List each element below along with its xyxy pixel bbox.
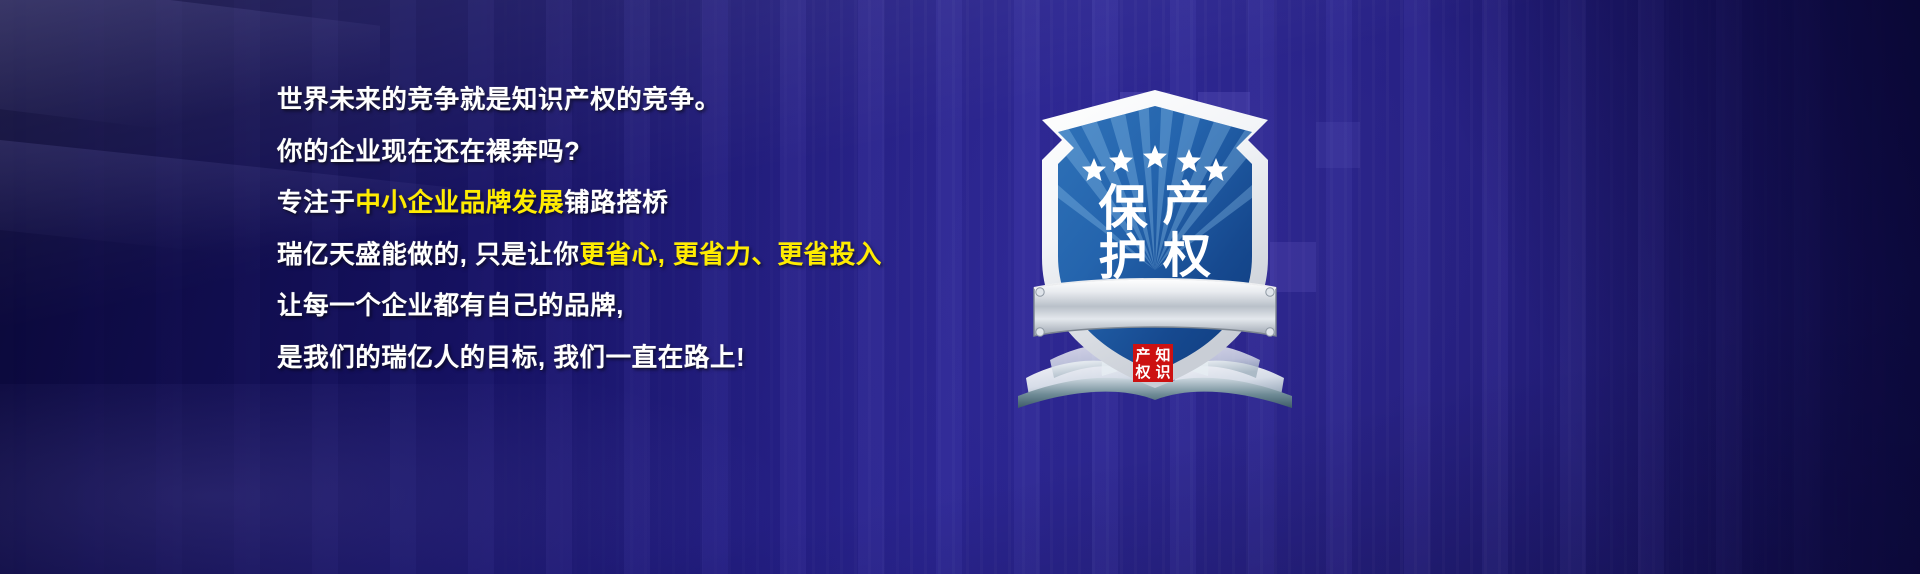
headline-line-3: 专注于中小企业品牌发展铺路搭桥 [277, 191, 937, 217]
shield-char-chan: 产 [1163, 177, 1210, 230]
headline-line-1-segment-1: 世界未来的竞争就是知识产权的竞争。 [277, 86, 721, 114]
headline-line-6: 是我们的瑞亿人的目标, 我们一直在路上! [277, 346, 937, 372]
headline-line-3-segment-3: 铺路搭桥 [564, 189, 668, 217]
seal-char-zhi: 知 [1155, 346, 1170, 364]
shield-char-hu: 护 [1098, 231, 1147, 285]
headline-line-4-highlight: 更省心, 更省力、更省投入 [579, 241, 881, 269]
headline-line-4: 瑞亿天盛能做的, 只是让你更省心, 更省力、更省投入 [277, 243, 937, 269]
shield-emblem: 保 产 护 权 产 知 权 识 [990, 60, 1320, 410]
seal-char-chan: 产 [1135, 346, 1150, 364]
background-bottom-glow [0, 384, 840, 574]
red-seal-stamp: 产 知 权 识 [1133, 344, 1173, 382]
silver-ribbon [1034, 279, 1276, 336]
headline-text-block: 世界未来的竞争就是知识产权的竞争。 你的企业现在还在裸奔吗? 专注于中小企业品牌… [277, 88, 937, 371]
headline-line-5: 让每一个企业都有自己的品牌, [277, 294, 937, 320]
headline-line-4-segment-1: 瑞亿天盛能做的, 只是让你 [277, 241, 579, 269]
shield-char-quan: 权 [1162, 230, 1211, 283]
headline-line-3-highlight: 中小企业品牌发展 [355, 189, 564, 217]
headline-line-5-segment-1: 让每一个企业都有自己的品牌, [277, 292, 624, 320]
headline-line-2: 你的企业现在还在裸奔吗? [277, 140, 937, 166]
promo-banner: 世界未来的竞争就是知识产权的竞争。 你的企业现在还在裸奔吗? 专注于中小企业品牌… [0, 0, 1920, 574]
seal-char-quan: 权 [1134, 363, 1151, 381]
headline-line-3-segment-1: 专注于 [277, 189, 355, 217]
headline-line-6-segment-1: 是我们的瑞亿人的目标, 我们一直在路上! [277, 344, 745, 372]
headline-line-2-segment-1: 你的企业现在还在裸奔吗? [277, 138, 580, 166]
shield-char-bao: 保 [1098, 182, 1148, 236]
headline-line-1: 世界未来的竞争就是知识产权的竞争。 [277, 88, 937, 114]
seal-char-shi: 识 [1155, 364, 1170, 381]
